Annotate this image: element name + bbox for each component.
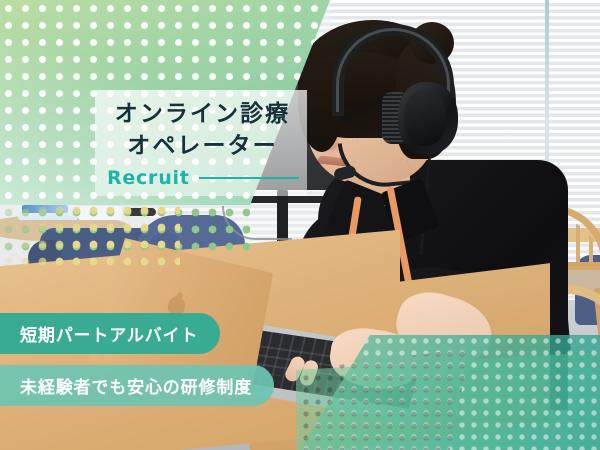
headset-earcup-inner <box>404 90 446 146</box>
badge-training-program: 未経験者でも安心の研修制度 <box>0 365 274 406</box>
title-line-1: オンライン診療 <box>115 99 291 131</box>
recruit-divider-line <box>199 177 299 179</box>
badge-short-term-parttime: 短期パートアルバイト <box>0 313 220 354</box>
recruit-row: Recruit <box>95 167 310 189</box>
title-line-2: オペレーター <box>127 131 277 163</box>
recruit-banner: オンライン診療 オペレーター Recruit 短期パートアルバイト 未経験者でも… <box>0 0 600 450</box>
recruit-label: Recruit <box>107 167 190 189</box>
title-block: オンライン診療 オペレーター Recruit <box>95 90 310 196</box>
